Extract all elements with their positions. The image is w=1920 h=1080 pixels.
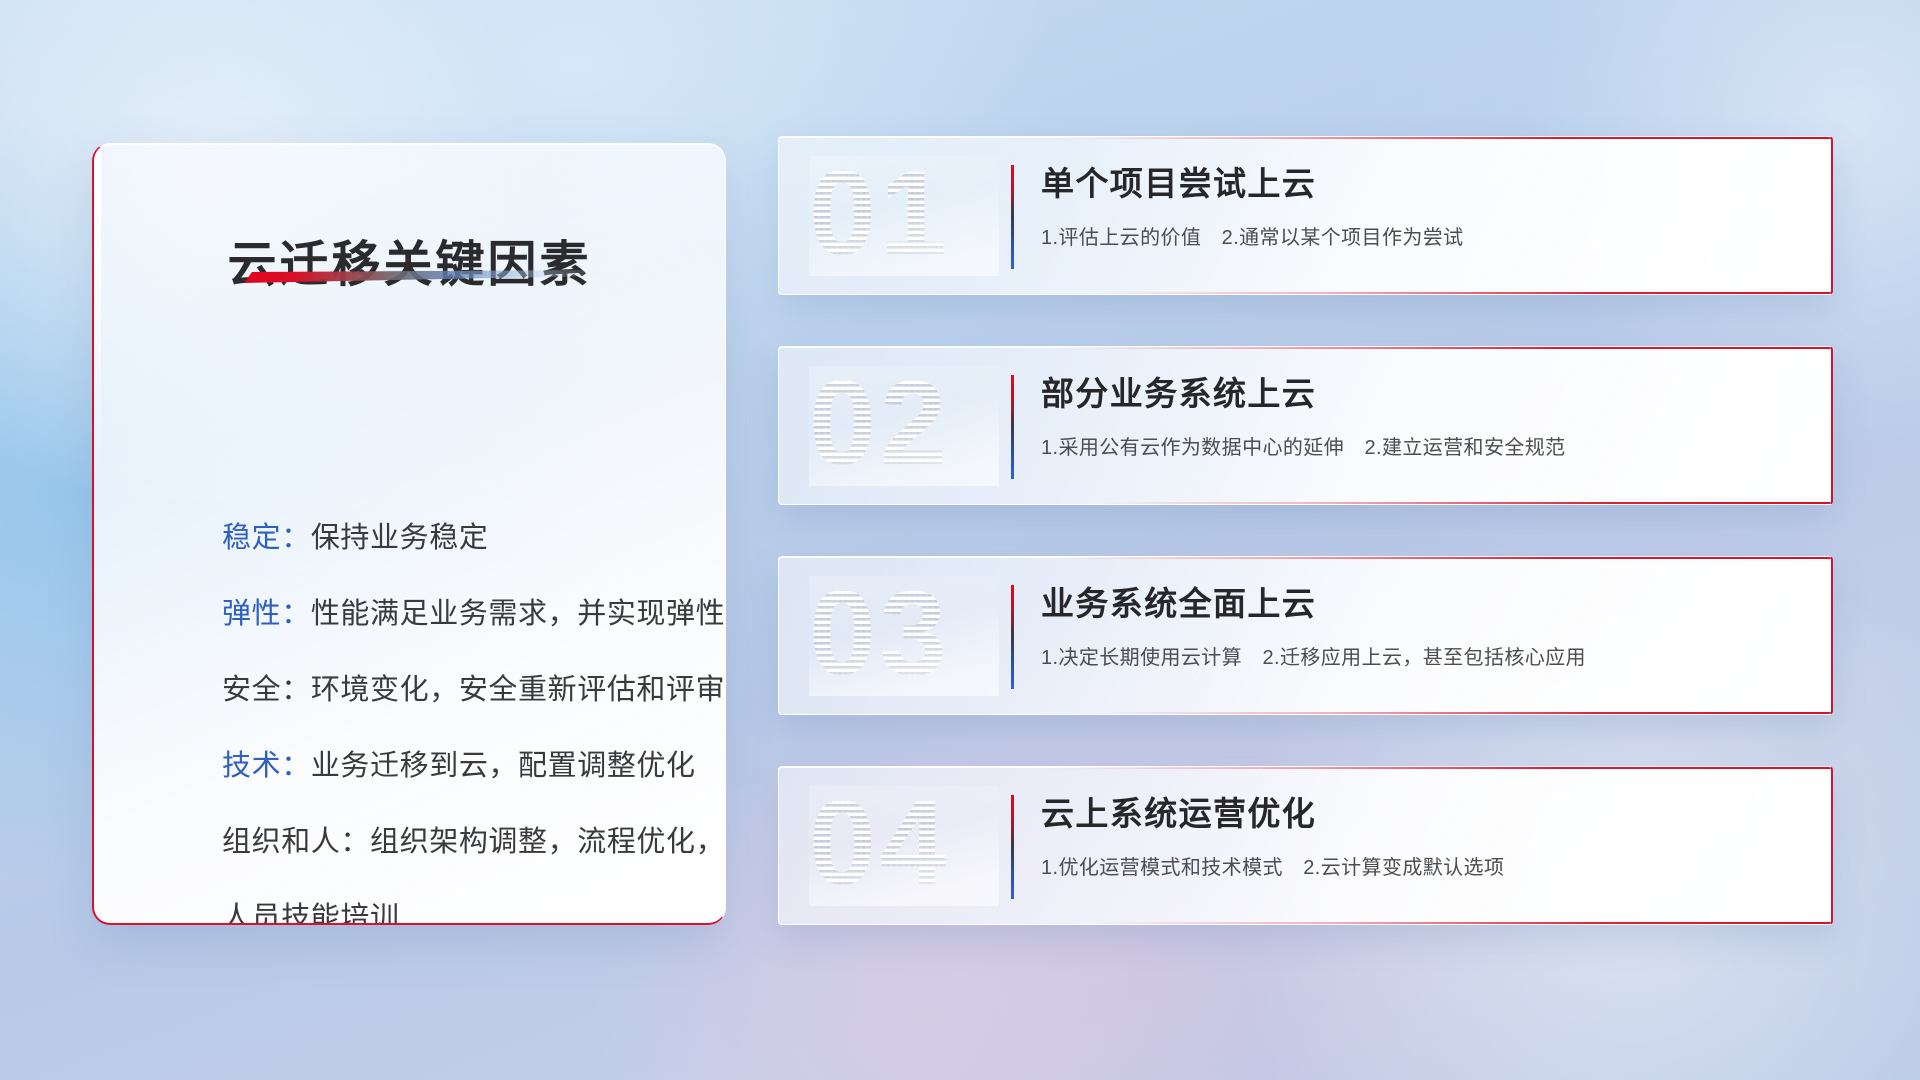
card-accent-bar: [1011, 165, 1014, 269]
title-underline-icon: [244, 270, 600, 283]
list-item-text: 人员技能培训: [222, 902, 400, 925]
card-title: 单个项目尝试上云: [1041, 165, 1807, 204]
key-factors-panel: 云迁移关键因素 稳定：保持业务稳定 弹: [92, 143, 726, 925]
list-item-continuation: 人员技能培训: [222, 904, 685, 925]
list-item: 弹性：性能满足业务需求，并实现弹性: [222, 600, 685, 629]
stage-card[interactable]: 04 云上系统运营优化 1.优化运营模式和技术模式 2.云计算变成默认选项: [778, 766, 1833, 925]
card-description: 1.决定长期使用云计算 2.迁移应用上云，甚至包括核心应用: [1041, 641, 1807, 670]
list-item-text: 业务迁移到云，配置调整优化: [311, 750, 696, 782]
card-bottom-accent-rule: [779, 292, 1831, 294]
list-item: 技术：业务迁移到云，配置调整优化: [222, 752, 685, 781]
list-item-label: 安全：: [222, 674, 311, 706]
card-bottom-accent-rule: [779, 922, 1831, 924]
stage-card[interactable]: 02 部分业务系统上云 1.采用公有云作为数据中心的延伸 2.建立运营和安全规范: [778, 346, 1833, 505]
list-item-text: 保持业务稳定: [311, 522, 489, 554]
card-body: 业务系统全面上云 1.决定长期使用云计算 2.迁移应用上云，甚至包括核心应用: [1041, 585, 1807, 670]
slide-canvas: 云迁移关键因素 稳定：保持业务稳定 弹: [0, 0, 1920, 1080]
list-item-label: 技术：: [222, 750, 311, 782]
list-item: 稳定：保持业务稳定: [222, 524, 685, 553]
migration-stage-cards: 01 单个项目尝试上云 1.评估上云的价值 2.通常以某个项目作为尝试: [778, 136, 1833, 925]
stage-card[interactable]: 03 业务系统全面上云 1.决定长期使用云计算 2.迁移应用上云，甚至包括核心应…: [778, 556, 1833, 715]
card-top-accent-rule: [779, 137, 1831, 139]
card-body: 部分业务系统上云 1.采用公有云作为数据中心的延伸 2.建立运营和安全规范: [1041, 375, 1807, 460]
card-accent-bar: [1011, 585, 1014, 689]
list-item-text: 环境变化，安全重新评估和评审: [311, 674, 725, 706]
card-top-accent-rule: [779, 347, 1831, 349]
card-body: 单个项目尝试上云 1.评估上云的价值 2.通常以某个项目作为尝试: [1041, 165, 1807, 250]
list-item: 安全：环境变化，安全重新评估和评审: [222, 676, 685, 705]
list-item-label: 组织和人：: [222, 826, 370, 858]
card-accent-bar: [1011, 375, 1014, 479]
card-top-accent-rule: [779, 557, 1831, 559]
key-factors-list: 稳定：保持业务稳定 弹性：性能满足业务需求，并实现弹性 安全：环境变化，安全重新…: [222, 524, 685, 925]
stage-number-04-icon: 04: [809, 786, 999, 906]
stage-number-01-icon: 01: [809, 156, 999, 276]
card-title: 部分业务系统上云: [1041, 375, 1807, 414]
card-description: 1.评估上云的价值 2.通常以某个项目作为尝试: [1041, 221, 1807, 250]
stage-number-02-icon: 02: [809, 366, 999, 486]
list-item-text: 组织架构调整，流程优化，: [370, 826, 725, 858]
list-item: 组织和人：组织架构调整，流程优化，: [222, 828, 685, 857]
stage-card[interactable]: 01 单个项目尝试上云 1.评估上云的价值 2.通常以某个项目作为尝试: [778, 136, 1833, 295]
stage-number-03-icon: 03: [809, 576, 999, 696]
card-bottom-accent-rule: [779, 712, 1831, 714]
card-title: 业务系统全面上云: [1041, 585, 1807, 624]
card-accent-bar: [1011, 795, 1014, 899]
list-item-label: 弹性：: [222, 598, 311, 630]
card-description: 1.采用公有云作为数据中心的延伸 2.建立运营和安全规范: [1041, 431, 1807, 460]
list-item-label: 稳定：: [222, 522, 311, 554]
card-title: 云上系统运营优化: [1041, 795, 1807, 834]
card-bottom-accent-rule: [779, 502, 1831, 504]
list-item-text: 性能满足业务需求，并实现弹性: [311, 598, 725, 630]
card-body: 云上系统运营优化 1.优化运营模式和技术模式 2.云计算变成默认选项: [1041, 795, 1807, 880]
card-top-accent-rule: [779, 767, 1831, 769]
card-description: 1.优化运营模式和技术模式 2.云计算变成默认选项: [1041, 851, 1807, 880]
page-title: 云迁移关键因素: [94, 225, 725, 296]
